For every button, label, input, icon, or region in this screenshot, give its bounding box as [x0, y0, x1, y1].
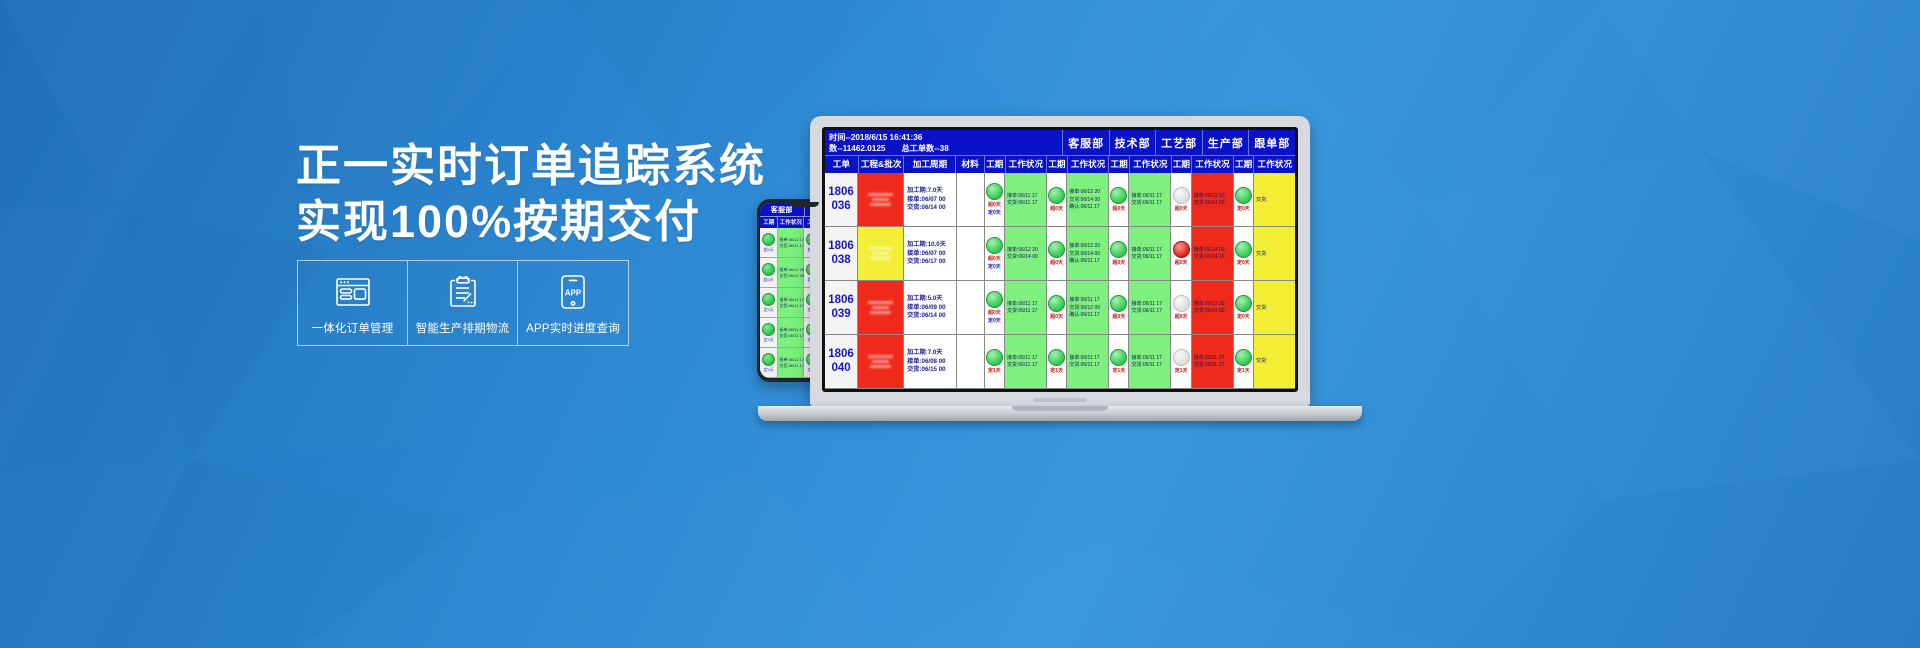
work-status-line: 交货:06/11 17 — [1007, 200, 1037, 206]
work-status-line: 交货:06/11 17 — [1194, 362, 1224, 368]
phone-duration-cell: 超0天 — [760, 258, 778, 287]
meta-count: 数--11462.0125 — [829, 143, 885, 154]
laptop-screen: 时间--2018/6/15 16:41:36 数--11462.0125 总工单… — [825, 130, 1295, 389]
work-status-cell: 接单:06/11 17交货:06/11 17 — [1128, 173, 1170, 226]
redacted-text-bar — [870, 203, 891, 206]
cycle-line: 接单:06/07 00 — [907, 250, 946, 258]
material-cell — [956, 335, 984, 388]
duration-tag: 超0天 — [1050, 313, 1063, 320]
order-number-cell: 1806038 — [825, 227, 857, 280]
column-header: 工作状况 — [1191, 156, 1233, 173]
redacted-text-bar — [870, 365, 891, 368]
duration-tag: 定1天 — [988, 367, 1001, 374]
order-number-suffix: 040 — [831, 362, 850, 375]
department-header: 跟单部 — [1248, 130, 1295, 155]
redacted-text-bar — [872, 198, 889, 201]
status-dot-icon — [1235, 241, 1252, 258]
redacted-text-bar — [872, 252, 889, 255]
phone-status-line: 接单:06/11 17 — [779, 327, 802, 332]
cycle-line: 交货:06/15 00 — [907, 366, 946, 374]
laptop-mockup: 时间--2018/6/15 16:41:36 数--11462.0125 总工单… — [810, 116, 1362, 421]
work-status-cell: 接单:06/11 17交货:06/12 09确认:06/11 17 — [1066, 281, 1108, 334]
processing-cycle-cell: 加工期:7.0天接单:06/07 00交货:06/14 00 — [903, 173, 956, 226]
work-status-line: 交货:06/14 00 — [1194, 200, 1225, 206]
column-header: 工期 — [1046, 156, 1067, 173]
duration-cell: 超0天 — [1108, 227, 1128, 280]
phone-duration-tag: 超0天 — [764, 247, 774, 253]
redacted-text-bar — [868, 247, 893, 250]
order-number-prefix: 1806 — [828, 294, 854, 307]
table-row[interactable]: 1806038加工期:10.0天接单:06/07 00交货:06/17 00超0… — [825, 227, 1295, 281]
order-number-prefix: 1806 — [828, 186, 854, 199]
duration-cell: 定1天 — [984, 335, 1004, 388]
table-row[interactable]: 1806039加工期:5.0天接单:06/09 00交货:06/14 00超0天… — [825, 281, 1295, 335]
work-status-cell: 接单:06/12 20交货:06/14 00 — [1004, 227, 1046, 280]
redacted-text-bar — [872, 360, 889, 363]
work-status-line: 接单:06/11 17 — [1007, 355, 1037, 361]
work-status-line: 交货:06/14 00 — [1194, 308, 1225, 314]
duration-cell: 超0天 — [1170, 227, 1190, 280]
phone-notch — [789, 202, 819, 207]
work-status-line: 确认:06/11 17 — [1069, 204, 1099, 210]
duration-cell: 定0天 — [1233, 281, 1253, 334]
work-status-line: 交货:06/14 00 — [1069, 251, 1100, 257]
order-table-body: 1806036加工期:7.0天接单:06/07 00交货:06/14 00超0天… — [825, 173, 1295, 389]
work-status-line: 交货:06/14 16 — [1194, 254, 1225, 260]
svg-text:APP: APP — [565, 288, 582, 297]
duration-tag: 定0天 — [1237, 313, 1250, 320]
redacted-text-bar — [868, 301, 893, 304]
phone-duration-tag: 定0天 — [764, 307, 774, 313]
feature-list: 一体化订单管理 智能生产排期物流 — [297, 260, 629, 346]
duration-tag: 超0天 — [988, 201, 1001, 208]
duration-cell: 超0天 — [1108, 173, 1128, 226]
work-status-line: 交货:06/11 17 — [1069, 362, 1099, 368]
duration-tag: 超0天 — [1050, 205, 1063, 212]
meta-time: 时间--2018/6/15 16:41:36 — [829, 132, 922, 143]
phone-subheader: 工期 — [760, 216, 778, 228]
meta-total: 总工单数--38 — [901, 143, 948, 154]
work-status-line: 确认:06/11 17 — [1069, 258, 1099, 264]
column-header: 工作状况 — [1067, 156, 1109, 173]
work-status-line: 接单:06/12 09 — [1194, 301, 1225, 307]
phone-status-line: 接单:06/11 17 — [779, 297, 802, 302]
work-status-line: 交货:06/12 09 — [1069, 305, 1100, 311]
work-status-cell: 接单:06/11 17交货:06/11 17 — [1004, 281, 1046, 334]
processing-cycle-cell: 加工期:10.0天接单:06/07 00交货:06/17 00 — [903, 227, 956, 280]
department-header-row: 客服部技术部工艺部生产部跟单部 — [1062, 130, 1295, 155]
duration-tag-secondary: 定0天 — [988, 209, 1001, 216]
status-dot-icon — [1048, 187, 1065, 204]
duration-cell: 定1天 — [1233, 335, 1253, 388]
duration-tag: 定1天 — [1237, 367, 1250, 374]
phone-status-cell: 接单:06/11 17交货:06/11 17 — [778, 228, 804, 257]
duration-tag: 超0天 — [1112, 313, 1125, 320]
department-header: 技术部 — [1109, 130, 1156, 155]
processing-cycle-cell: 加工期:7.0天接单:06/08 00交货:06/15 00 — [903, 335, 956, 388]
cycle-line: 交货:06/17 00 — [907, 258, 946, 266]
column-header: 工程&批次 — [858, 156, 904, 173]
status-dot-icon — [1048, 349, 1065, 366]
duration-cell: 超0天 — [1046, 281, 1066, 334]
work-status-cell: 接单:06/11 17交货:06/11 17 — [1004, 173, 1046, 226]
laptop-lid: 时间--2018/6/15 16:41:36 数--11462.0125 总工单… — [810, 116, 1310, 406]
duration-cell: 定1天 — [1170, 335, 1190, 388]
work-status-cell: 交货: — [1253, 281, 1295, 334]
duration-tag: 定0天 — [1237, 259, 1250, 266]
work-status-cell: 接单:06/13 10交货:06/14 00 — [1191, 173, 1233, 226]
duration-cell: 定1天 — [1108, 335, 1128, 388]
work-status-cell: 接单:06/11 17交货:06/11 17 — [1128, 335, 1170, 388]
mobile-app-icon: APP — [553, 273, 593, 311]
status-dot-icon — [1048, 241, 1065, 258]
duration-tag: 定0天 — [1237, 205, 1250, 212]
laptop-base — [758, 406, 1362, 421]
duration-cell: 定1天 — [1046, 335, 1066, 388]
status-dot-icon — [1110, 295, 1127, 312]
column-header-row: 工单工程&批次加工周期材料工期工作状况工期工作状况工期工作状况工期工作状况工期工… — [825, 156, 1295, 173]
material-cell — [956, 227, 984, 280]
status-dot-icon — [1173, 349, 1190, 366]
project-batch-cell — [857, 281, 903, 334]
work-status-line: 接单:06/12 20 — [1069, 243, 1100, 249]
work-status-line: 交货: — [1256, 197, 1267, 203]
clipboard-schedule-icon — [443, 273, 483, 311]
duration-tag: 超0天 — [1112, 259, 1125, 266]
duration-cell: 超0天 — [1170, 173, 1190, 226]
work-status-line: 接单:06/11 17 — [1007, 193, 1037, 199]
order-number-cell: 1806039 — [825, 281, 857, 334]
column-header: 加工周期 — [903, 156, 955, 173]
phone-duration-cell: 定0天 — [760, 288, 778, 317]
duration-tag: 超0天 — [988, 309, 1001, 316]
work-status-cell: 接单:06/12 09交货:06/14 00 — [1191, 281, 1233, 334]
feature-label: 智能生产排期物流 — [416, 320, 510, 336]
cycle-line: 加工期:7.0天 — [907, 187, 942, 195]
duration-cell: 定0天 — [1233, 173, 1253, 226]
redacted-text-bar — [868, 355, 893, 358]
work-status-line: 交货:06/11 17 — [1131, 308, 1161, 314]
dashboard-window-icon — [333, 273, 373, 311]
project-batch-cell — [857, 173, 903, 226]
cycle-line: 加工期:10.0天 — [907, 241, 946, 249]
table-row[interactable]: 1806036加工期:7.0天接单:06/07 00交货:06/14 00超0天… — [825, 173, 1295, 227]
redacted-text-bar — [870, 311, 891, 314]
feature-item-app-progress-query[interactable]: APP APP实时进度查询 — [518, 261, 628, 345]
duration-tag: 超0天 — [1175, 313, 1188, 320]
work-status-line: 交货: — [1256, 358, 1267, 364]
work-status-cell: 接单:06/11 17交货:06/11 17 — [1066, 335, 1108, 388]
hero-banner: 正一实时订单追踪系统 实现100%按期交付 一体化订单管理 — [0, 0, 1920, 648]
dashboard-meta-row: 时间--2018/6/15 16:41:36 数--11462.0125 总工单… — [825, 130, 1295, 156]
work-status-cell: 交货: — [1253, 227, 1295, 280]
phone-status-line: 接单:06/11 17 — [779, 237, 802, 242]
status-dot-icon — [1110, 241, 1127, 258]
work-status-line: 接单:06/11 17 — [1194, 355, 1224, 361]
work-status-line: 交货:06/11 17 — [1131, 254, 1161, 260]
phone-status-line: 交货:06/11 17 — [779, 243, 802, 248]
column-header: 工期 — [1171, 156, 1192, 173]
work-status-cell: 接单:06/11 17交货:06/11 17 — [1004, 335, 1046, 388]
work-status-line: 接单:06/12 20 — [1069, 189, 1100, 195]
work-status-line: 接单:06/13 10 — [1194, 193, 1225, 199]
work-status-cell: 接单:06/11 17交货:06/11 17 — [1128, 281, 1170, 334]
status-dot-icon — [1235, 187, 1252, 204]
work-status-cell: 交货: — [1253, 173, 1295, 226]
phone-status-cell: 接单:06/11 17交货:06/11 17 — [778, 348, 804, 377]
dashboard-meta-left: 时间--2018/6/15 16:41:36 数--11462.0125 总工单… — [825, 130, 1062, 155]
duration-cell: 超0天定0天 — [984, 281, 1004, 334]
column-header: 工单 — [825, 156, 858, 173]
status-dot-icon — [762, 323, 775, 336]
laptop-bezel: 时间--2018/6/15 16:41:36 数--11462.0125 总工单… — [822, 127, 1298, 392]
work-status-line: 接单:06/11 17 — [1069, 297, 1099, 303]
duration-tag-secondary: 定0天 — [988, 317, 1001, 324]
duration-cell: 超0天 — [1046, 173, 1066, 226]
column-header: 工期 — [1233, 156, 1254, 173]
cycle-line: 加工期:5.0天 — [907, 295, 942, 303]
work-status-line: 交货:06/11 17 — [1007, 362, 1037, 368]
material-cell — [956, 173, 984, 226]
work-status-line: 交货:06/11 17 — [1007, 308, 1037, 314]
phone-status-line: 接单:06/12 20 — [779, 267, 802, 272]
duration-tag: 定1天 — [1050, 367, 1063, 374]
phone-duration-cell: 定0天 — [760, 318, 778, 347]
status-dot-icon — [1173, 241, 1190, 258]
status-dot-icon — [986, 183, 1003, 200]
redacted-text-bar — [868, 193, 893, 196]
order-number-prefix: 1806 — [828, 348, 854, 361]
duration-tag: 定1天 — [1175, 367, 1188, 374]
cycle-line: 交货:06/14 00 — [907, 204, 946, 212]
phone-status-cell: 接单:06/12 20交货:06/12 20 — [778, 258, 804, 287]
phone-status-line: 交货:06/11 17 — [779, 363, 802, 368]
phone-status-line: 接单:06/11 17 — [779, 357, 802, 362]
duration-cell: 超0天定0天 — [984, 227, 1004, 280]
cycle-line: 接单:06/09 00 — [907, 304, 946, 312]
duration-tag: 超0天 — [1050, 259, 1063, 266]
work-status-line: 交货: — [1256, 251, 1267, 257]
meta-count-line: 数--11462.0125 总工单数--38 — [829, 143, 1058, 154]
cycle-line: 接单:06/07 00 — [907, 196, 946, 204]
work-status-line: 接单:06/11 17 — [1131, 355, 1161, 361]
order-number-prefix: 1806 — [828, 240, 854, 253]
status-dot-icon — [762, 353, 775, 366]
column-header: 工期 — [1108, 156, 1129, 173]
phone-status-line: 交货:06/11 17 — [779, 303, 802, 308]
duration-tag: 超0天 — [1175, 205, 1188, 212]
phone-duration-tag: 定0天 — [764, 367, 774, 373]
order-number-suffix: 039 — [831, 308, 850, 321]
work-status-line: 接单:06/11 17 — [1007, 301, 1037, 307]
duration-cell: 定0天 — [1233, 227, 1253, 280]
work-status-line: 接单:06/11 17 — [1069, 355, 1099, 361]
processing-cycle-cell: 加工期:5.0天接单:06/09 00交货:06/14 00 — [903, 281, 956, 334]
work-status-line: 接单:06/12 20 — [1007, 247, 1038, 253]
order-number-suffix: 036 — [831, 200, 850, 213]
duration-cell: 超0天 — [1046, 227, 1066, 280]
phone-status-line: 交货:06/11 17 — [779, 333, 802, 338]
work-status-cell: 交货: — [1253, 335, 1295, 388]
project-batch-cell — [857, 227, 903, 280]
duration-tag: 超0天 — [1175, 259, 1188, 266]
duration-tag: 超0天 — [988, 255, 1001, 262]
feature-item-production-scheduling[interactable]: 智能生产排期物流 — [408, 261, 518, 345]
status-dot-icon — [1173, 295, 1190, 312]
redacted-text-bar — [872, 306, 889, 309]
work-status-cell: 接单:06/12 20交货:06/14 00确认:06/11 17 — [1066, 227, 1108, 280]
work-status-line: 交货: — [1256, 305, 1267, 311]
cycle-line: 交货:06/14 00 — [907, 312, 946, 320]
feature-label: APP实时进度查询 — [526, 320, 620, 336]
cycle-line: 接单:06/08 00 — [907, 358, 946, 366]
meta-time-line: 时间--2018/6/15 16:41:36 — [829, 132, 1058, 143]
duration-cell: 超0天定0天 — [984, 173, 1004, 226]
cycle-line: 加工期:7.0天 — [907, 349, 942, 357]
order-number-cell: 1806036 — [825, 173, 857, 226]
status-dot-icon — [1110, 187, 1127, 204]
duration-tag: 超0天 — [1112, 205, 1125, 212]
redacted-text-bar — [870, 257, 891, 260]
duration-tag-secondary: 定0天 — [988, 263, 1001, 270]
column-header: 工作状况 — [1253, 156, 1295, 173]
phone-status-line: 交货:06/12 20 — [779, 273, 802, 278]
feature-item-order-management[interactable]: 一体化订单管理 — [298, 261, 408, 345]
phone-duration-tag: 定0天 — [764, 337, 774, 343]
work-status-line: 接单:06/11 17 — [1131, 247, 1161, 253]
work-status-line: 交货:06/14 00 — [1069, 197, 1100, 203]
work-status-line: 交货:06/11 17 — [1131, 200, 1161, 206]
column-header: 工期 — [984, 156, 1005, 173]
department-header: 客服部 — [1062, 130, 1109, 155]
project-batch-cell — [857, 335, 903, 388]
status-dot-icon — [1048, 295, 1065, 312]
work-status-cell: 接单:06/14 00交货:06/14 16 — [1191, 227, 1233, 280]
phone-subheader: 工作状况 — [778, 216, 804, 228]
status-dot-icon — [1110, 349, 1127, 366]
phone-duration-tag: 超0天 — [764, 277, 774, 283]
order-number-cell: 1806040 — [825, 335, 857, 388]
department-header: 工艺部 — [1155, 130, 1202, 155]
phone-duration-cell: 超0天 — [760, 228, 778, 257]
phone-status-cell: 接单:06/11 17交货:06/11 17 — [778, 318, 804, 347]
phone-status-cell: 接单:06/11 17交货:06/11 17 — [778, 288, 804, 317]
work-status-cell: 接单:06/12 20交货:06/14 00确认:06/11 17 — [1066, 173, 1108, 226]
status-dot-icon — [1235, 295, 1252, 312]
work-status-line: 交货:06/14 00 — [1007, 254, 1038, 260]
work-status-line: 接单:06/14 00 — [1194, 247, 1225, 253]
column-header: 工作状况 — [1005, 156, 1047, 173]
status-dot-icon — [1235, 349, 1252, 366]
work-status-line: 交货:06/11 17 — [1131, 362, 1161, 368]
feature-label: 一体化订单管理 — [312, 320, 394, 336]
work-status-cell: 接单:06/11 17交货:06/11 17 — [1191, 335, 1233, 388]
work-status-line: 确认:06/11 17 — [1069, 312, 1099, 318]
status-dot-icon — [986, 237, 1003, 254]
duration-tag: 定1天 — [1112, 367, 1125, 374]
work-status-line: 接单:06/11 17 — [1131, 301, 1161, 307]
order-number-suffix: 038 — [831, 254, 850, 267]
duration-cell: 超0天 — [1170, 281, 1190, 334]
phone-duration-cell: 定0天 — [760, 348, 778, 377]
column-header: 工作状况 — [1129, 156, 1171, 173]
department-header: 生产部 — [1202, 130, 1249, 155]
status-dot-icon — [986, 349, 1003, 366]
material-cell — [956, 281, 984, 334]
work-status-cell: 接单:06/11 17交货:06/11 17 — [1128, 227, 1170, 280]
column-header: 材料 — [955, 156, 983, 173]
status-dot-icon — [986, 291, 1003, 308]
status-dot-icon — [1173, 187, 1190, 204]
status-dot-icon — [762, 293, 775, 306]
table-row[interactable]: 1806040加工期:7.0天接单:06/08 00交货:06/15 00定1天… — [825, 335, 1295, 389]
work-status-line: 接单:06/11 17 — [1131, 193, 1161, 199]
duration-cell: 超0天 — [1108, 281, 1128, 334]
status-dot-icon — [762, 233, 775, 246]
status-dot-icon — [762, 263, 775, 276]
